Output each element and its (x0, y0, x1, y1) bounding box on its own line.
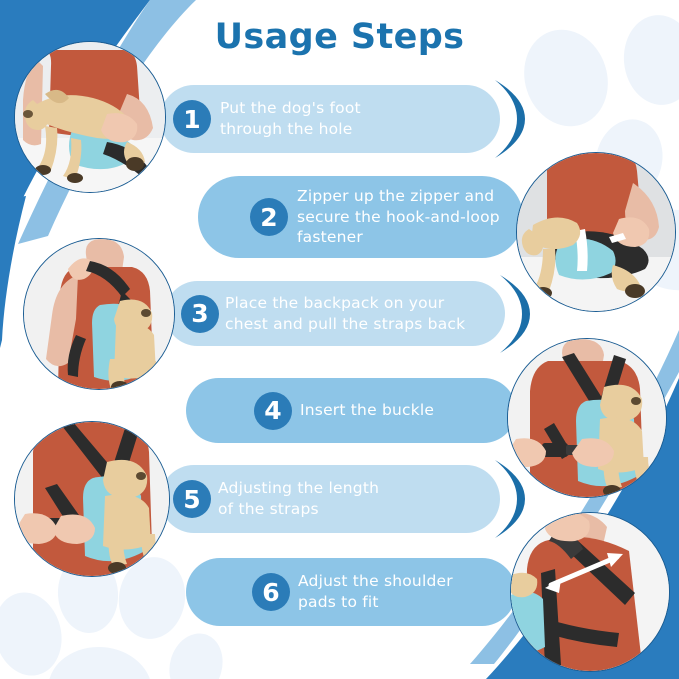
step-pill-1: 1 Put the dog's foot through the hole (160, 85, 500, 153)
step-pill-3: 3 Place the backpack on your chest and p… (165, 281, 505, 346)
step-photo-4 (507, 338, 667, 498)
step-label-1: Put the dog's foot through the hole (220, 98, 361, 139)
step-photo-2 (516, 152, 676, 312)
usage-steps-infographic: Usage Steps (0, 0, 679, 679)
step-badge-4: 4 (254, 392, 292, 430)
top-left-blue-wedge-lower (0, 196, 26, 348)
step-badge-1: 1 (173, 100, 211, 138)
step-photo-5 (14, 421, 170, 577)
step-row-1: 1 Put the dog's foot through the hole (160, 85, 500, 153)
step-pill-6: 6 Adjust the shoulder pads to fit (186, 558, 516, 626)
step-label-4: Insert the buckle (300, 400, 434, 421)
step-photo-6 (510, 512, 670, 672)
step-photo-3 (23, 238, 175, 390)
step-badge-2: 2 (250, 198, 288, 236)
step-row-5: 5 Adjusting the length of the straps (160, 465, 500, 533)
step-row-2: 2 Zipper up the zipper and secure the ho… (198, 176, 523, 258)
page-title: Usage Steps (0, 17, 679, 57)
step-label-3: Place the backpack on your chest and pul… (225, 293, 465, 334)
step-badge-6: 6 (252, 573, 290, 611)
step-label-2: Zipper up the zipper and secure the hook… (297, 186, 500, 248)
step-row-6: 6 Adjust the shoulder pads to fit (186, 558, 516, 626)
step-pill-4: 4 Insert the buckle (186, 378, 516, 443)
step-badge-5: 5 (173, 480, 211, 518)
step-row-3: 3 Place the backpack on your chest and p… (165, 281, 505, 346)
step-photo-1 (14, 41, 166, 193)
step-pill-2: 2 Zipper up the zipper and secure the ho… (198, 176, 523, 258)
step-row-4: 4 Insert the buckle (186, 378, 516, 443)
step-label-6: Adjust the shoulder pads to fit (298, 571, 453, 612)
step-badge-3: 3 (181, 295, 219, 333)
step-label-5: Adjusting the length of the straps (218, 478, 379, 519)
step-pill-5: 5 Adjusting the length of the straps (160, 465, 500, 533)
